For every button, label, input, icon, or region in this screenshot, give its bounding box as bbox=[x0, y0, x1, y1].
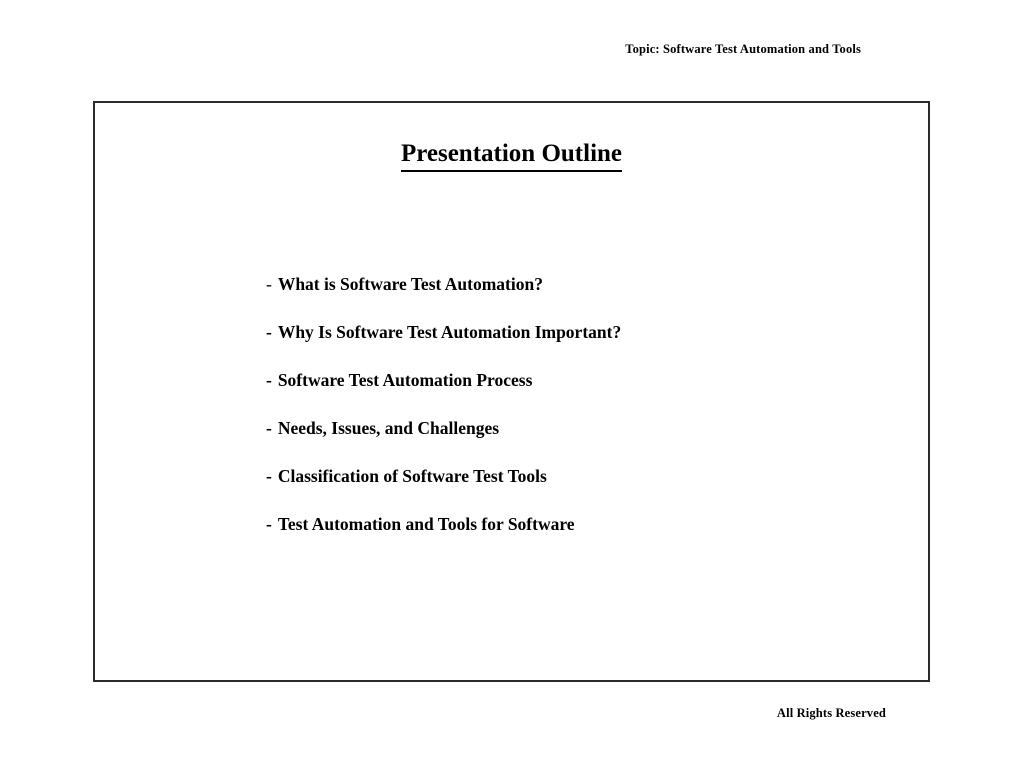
outline-item-marker: - bbox=[266, 273, 272, 295]
page-title: Presentation Outline bbox=[95, 139, 928, 172]
outline-item-marker: - bbox=[266, 321, 272, 343]
outline-item: -Why Is Software Test Automation Importa… bbox=[266, 321, 916, 369]
slide-content-frame: Presentation Outline -What is Software T… bbox=[93, 101, 930, 682]
slide-rights-footer: All Rights Reserved bbox=[0, 705, 886, 721]
outline-item-label: Software Test Automation Process bbox=[278, 369, 533, 391]
outline-item-label: Needs, Issues, and Challenges bbox=[278, 417, 499, 439]
outline-item-marker: - bbox=[266, 369, 272, 391]
outline-item-marker: - bbox=[266, 513, 272, 535]
outline-item-label: Why Is Software Test Automation Importan… bbox=[278, 321, 621, 343]
outline-item: -Classification of Software Test Tools bbox=[266, 465, 916, 513]
page-title-text: Presentation Outline bbox=[401, 139, 622, 172]
outline-item-label: Test Automation and Tools for Software bbox=[278, 513, 575, 535]
outline-item: -Test Automation and Tools for Software bbox=[266, 513, 916, 561]
outline-item-marker: - bbox=[266, 417, 272, 439]
outline-item: -Software Test Automation Process bbox=[266, 369, 916, 417]
outline-list: -What is Software Test Automation?-Why I… bbox=[266, 273, 916, 561]
outline-item: -Needs, Issues, and Challenges bbox=[266, 417, 916, 465]
slide-topic-header: Topic: Software Test Automation and Tool… bbox=[0, 41, 861, 57]
outline-item-label: Classification of Software Test Tools bbox=[278, 465, 547, 487]
outline-item-marker: - bbox=[266, 465, 272, 487]
outline-item-label: What is Software Test Automation? bbox=[278, 273, 543, 295]
slide-canvas: { "header": { "topic_label": "Topic: Sof… bbox=[0, 0, 1024, 768]
outline-item: -What is Software Test Automation? bbox=[266, 273, 916, 321]
